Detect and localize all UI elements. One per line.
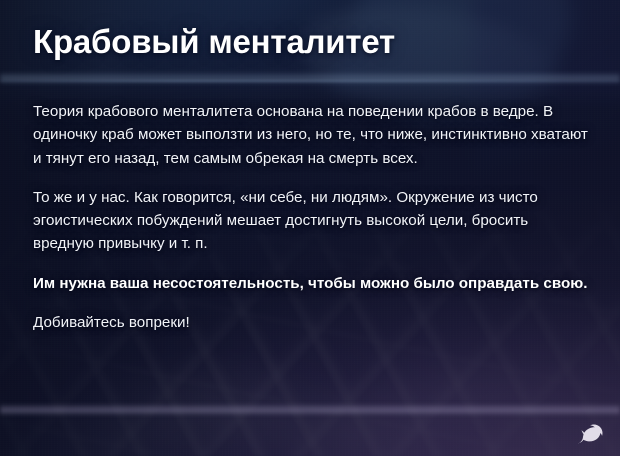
paragraph-call-to-action: Добивайтесь вопреки! [33,311,592,334]
quote-card: Крабовый менталитет Теория крабового мен… [0,0,620,456]
paragraph-intro: Теория крабового менталитета основана на… [33,100,592,170]
dolphin-icon [574,420,604,446]
paragraph-conclusion: Им нужна ваша несостоятельность, чтобы м… [33,272,592,295]
paragraph-analogy: То же и у нас. Как говорится, «ни себе, … [33,186,592,256]
slide-content: Крабовый менталитет Теория крабового мен… [0,0,620,456]
body-text-block: Теория крабового менталитета основана на… [33,100,592,334]
page-title: Крабовый менталитет [33,22,395,62]
